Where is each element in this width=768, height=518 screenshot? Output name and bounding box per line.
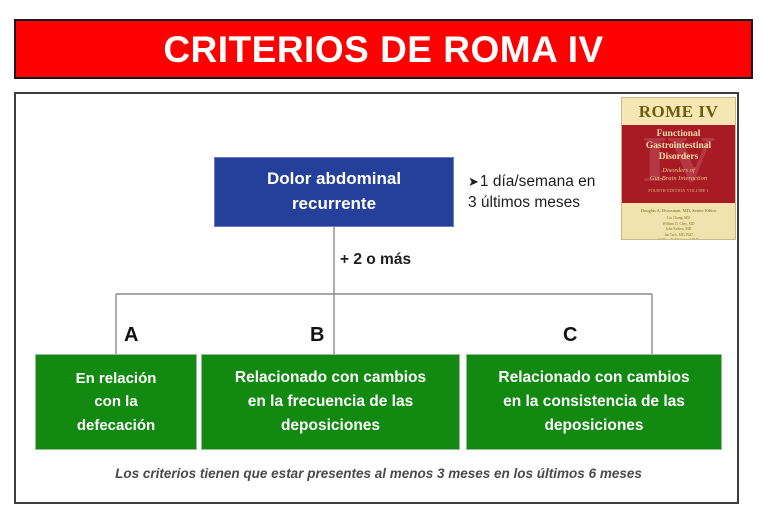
book-cover-edition: FOURTH EDITION VOLUME I [648, 188, 708, 193]
criterion-box-c: Relacionado con cambios en la consistenc… [466, 354, 722, 450]
frequency-note: ➤1 día/semana en 3 últimos meses [468, 172, 633, 214]
criterion-b-line-2: en la frecuencia de las [248, 390, 413, 414]
book-cover-red-panel: IV Functional Gastrointestinal Disorders… [622, 125, 735, 203]
criterion-a-line-2: con la [94, 390, 137, 413]
book-cover-subtitle-line-2: Gastrointestinal [646, 141, 711, 153]
book-cover-credits-band: Douglas A. Drossman, MD, Senior Editor L… [622, 203, 735, 240]
footer-note: Los criterios tienen que estar presentes… [16, 466, 741, 481]
arrow-bullet-icon: ➤ [468, 174, 479, 189]
book-cover-tagline-line-1: Disorders of [662, 167, 694, 174]
root-node-line-1: Dolor abdominal [267, 167, 401, 192]
book-cover-editor: Douglas A. Drossman, MD, Senior Editor [641, 208, 717, 213]
criterion-box-a: En relación con la defecación [35, 354, 197, 450]
branch-letter-b: B [310, 325, 324, 345]
root-node-line-2: recurrente [292, 192, 376, 217]
criterion-box-b: Relacionado con cambios en la frecuencia… [201, 354, 460, 450]
criterion-c-line-2: en la consistencia de las [503, 390, 685, 414]
branch-letter-a: A [124, 325, 138, 345]
branch-letter-c: C [563, 325, 577, 345]
root-node-abdominal-pain: Dolor abdominal recurrente [214, 157, 454, 227]
book-cover-subtitle-line-1: Functional [657, 129, 701, 141]
criterion-b-line-3: deposiciones [281, 414, 380, 438]
book-cover-title: ROME IV [639, 102, 719, 122]
book-cover-tagline: Disorders of Gut-Brain Interaction [650, 167, 707, 183]
diagram-panel: Dolor abdominal recurrente ➤1 día/semana… [14, 92, 739, 504]
page-title: CRITERIOS DE ROMA IV [163, 31, 603, 68]
criterion-c-line-1: Relacionado con cambios [498, 366, 689, 390]
page-title-banner: CRITERIOS DE ROMA IV [14, 19, 753, 79]
connector-label-two-or-more: + 2 o más [340, 251, 411, 269]
criterion-a-line-1: En relación [76, 367, 157, 390]
book-cover-subtitle-line-3: Disorders [659, 152, 699, 164]
criterion-b-line-1: Relacionado con cambios [235, 366, 426, 390]
frequency-note-line-1: 1 día/semana en [480, 173, 595, 190]
frequency-note-line-2: 3 últimos meses [468, 194, 580, 211]
book-cover-title-band: ROME IV [622, 98, 735, 125]
criterion-c-line-3: deposiciones [544, 414, 643, 438]
book-cover-authors: Lin Chang, MDWilliam D. Chey, MDJohn Kel… [657, 216, 700, 240]
rome-iv-book-cover: ROME IV IV Functional Gastrointestinal D… [621, 97, 736, 240]
criterion-a-line-3: defecación [77, 414, 155, 437]
book-cover-tagline-line-2: Gut-Brain Interaction [650, 175, 707, 182]
